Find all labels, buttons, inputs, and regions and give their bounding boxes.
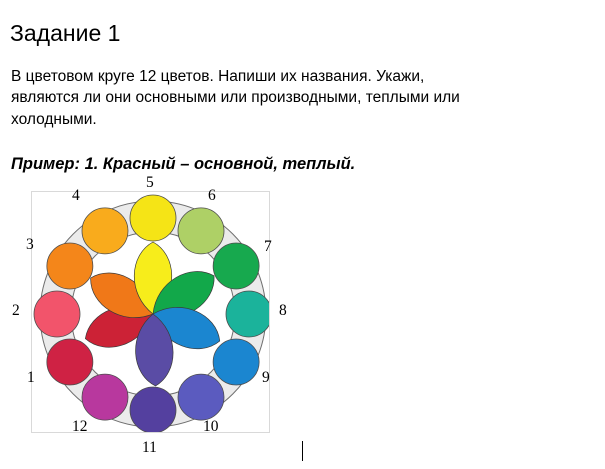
wheel-number-5: 5 [146,175,154,191]
color-swatch-12 [82,374,128,420]
text-caret [302,441,303,461]
wheel-number-2: 2 [12,303,20,319]
wheel-number-6: 6 [208,188,216,204]
color-wheel-figure [31,191,270,433]
color-swatch-7 [213,243,259,289]
color-swatch-1 [47,339,93,385]
color-swatch-9 [213,339,259,385]
color-swatch-3 [47,243,93,289]
color-swatch-11 [130,387,176,432]
wheel-number-12: 12 [72,419,88,435]
task-description: В цветовом круге 12 цветов. Напиши их на… [11,66,463,131]
wheel-number-9: 9 [262,370,270,386]
wheel-number-7: 7 [264,239,272,255]
color-swatch-5 [130,195,176,241]
color-wheel-svg [32,192,269,432]
color-swatch-2 [34,291,80,337]
color-swatch-4 [82,208,128,254]
wheel-number-3: 3 [26,237,34,253]
page-title: Задание 1 [10,19,120,47]
wheel-number-11: 11 [142,440,157,456]
wheel-number-4: 4 [72,188,80,204]
wheel-number-10: 10 [203,419,219,435]
color-swatch-8 [226,291,269,337]
color-swatch-6 [178,208,224,254]
wheel-number-1: 1 [27,370,35,386]
wheel-number-8: 8 [279,303,287,319]
color-swatch-10 [178,374,224,420]
example-answer-line: Пример: 1. Красный – основной, теплый. [11,153,355,175]
